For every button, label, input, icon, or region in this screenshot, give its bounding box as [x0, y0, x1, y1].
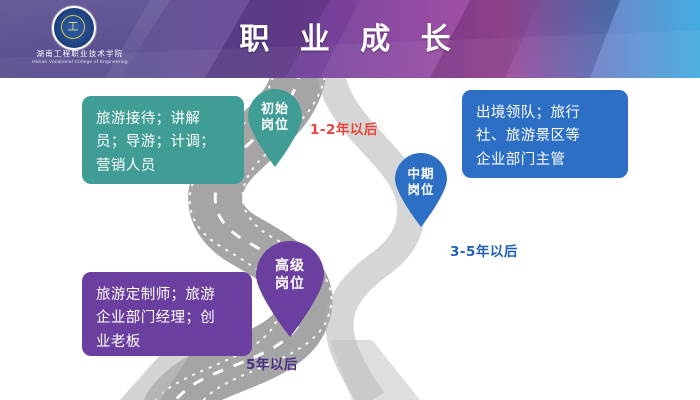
map-pin-senior: 高级 岗位: [252, 240, 328, 338]
map-pin-senior-line-2: 岗位: [252, 276, 328, 294]
map-pin-senior-label: 高级 岗位: [252, 258, 328, 293]
map-pin-mid: 中期 岗位: [392, 152, 450, 228]
callout-entry-line-1: 旅游接待；讲解: [96, 108, 230, 131]
logo-seal-character: 工: [61, 15, 85, 39]
callout-senior-line-1: 旅游定制师；旅游: [96, 284, 238, 307]
callout-senior-line-3: 业老板: [96, 331, 238, 354]
map-pin-mid-line-2: 岗位: [392, 182, 450, 198]
logo-seal-icon: 工: [52, 6, 96, 50]
callout-mid-line-2: 社、旅游景区等: [476, 125, 614, 148]
callout-entry-jobs: 旅游接待；讲解 员；导游；计调； 营销人员: [82, 96, 244, 184]
time-label-senior: 5年以后: [246, 353, 298, 373]
callout-senior-jobs: 旅游定制师；旅游 企业部门经理；创 业老板: [82, 272, 252, 356]
slide-header: 职 业 成 长 工 湖南工程职业技术学院 Hunan Vocational Co…: [0, 0, 700, 78]
callout-mid-line-1: 出境领队；旅行: [476, 102, 614, 125]
map-pin-entry-label: 初始 岗位: [244, 102, 306, 135]
map-pin-mid-line-1: 中期: [392, 166, 450, 182]
college-logo: 工 湖南工程职业技术学院 Hunan Vocational College of…: [14, 4, 146, 74]
callout-mid-jobs: 出境领队；旅行 社、旅游景区等 企业部门主管: [462, 90, 628, 178]
logo-chinese-name: 湖南工程职业技术学院: [14, 48, 146, 59]
callout-entry-line-3: 营销人员: [96, 155, 230, 178]
callout-entry-line-2: 员；导游；计调；: [96, 131, 230, 154]
map-pin-entry: 初始 岗位: [244, 88, 306, 168]
callout-mid-line-3: 企业部门主管: [476, 149, 614, 172]
map-pin-entry-line-2: 岗位: [244, 118, 306, 134]
map-pin-mid-label: 中期 岗位: [392, 166, 450, 197]
logo-english-name: Hunan Vocational College of Engineering: [14, 59, 146, 64]
time-label-entry: 1-2年以后: [310, 118, 378, 138]
time-label-mid: 3-5年以后: [450, 240, 518, 260]
map-pin-entry-line-1: 初始: [244, 102, 306, 118]
ground-shape-right: [330, 340, 420, 400]
slide-canvas: 职 业 成 长 工 湖南工程职业技术学院 Hunan Vocational Co…: [0, 0, 700, 400]
callout-senior-line-2: 企业部门经理；创: [96, 307, 238, 330]
map-pin-senior-line-1: 高级: [252, 258, 328, 276]
